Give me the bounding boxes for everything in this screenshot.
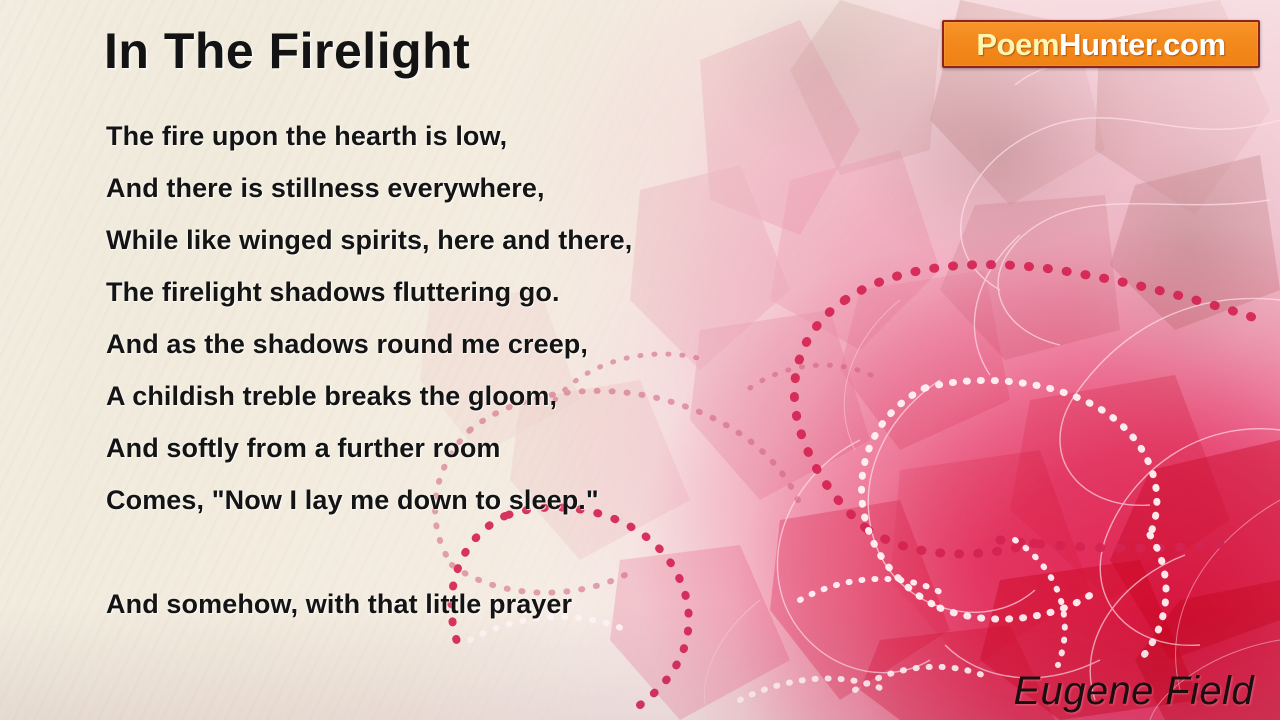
poem-line: The firelight shadows fluttering go. — [106, 266, 866, 318]
logo-text-hunter: Hunter.com — [1059, 27, 1226, 62]
poem-line: The fire upon the hearth is low, — [106, 110, 866, 162]
page-title: In The Firelight — [104, 22, 470, 80]
poem-line: And softly from a further room — [106, 422, 866, 474]
poem-line: And there is stillness everywhere, — [106, 162, 866, 214]
poem-body: The fire upon the hearth is low, And the… — [106, 110, 866, 630]
poem-line: While like winged spirits, here and ther… — [106, 214, 866, 266]
author-name: Eugene Field — [1013, 669, 1254, 714]
logo-text-poem: Poem — [976, 27, 1059, 62]
poemhunter-logo[interactable]: PoemHunter.com — [942, 20, 1260, 68]
poem-line: And somehow, with that little prayer — [106, 578, 866, 630]
poem-line: Comes, "Now I lay me down to sleep." — [106, 474, 866, 526]
poem-slide: In The Firelight The fire upon the heart… — [0, 0, 1280, 720]
poem-line: A childish treble breaks the gloom, — [106, 370, 866, 422]
poem-line: And as the shadows round me creep, — [106, 318, 866, 370]
logo-text-wrapper: PoemHunter.com — [976, 29, 1225, 60]
poem-stanza-break — [106, 526, 866, 578]
